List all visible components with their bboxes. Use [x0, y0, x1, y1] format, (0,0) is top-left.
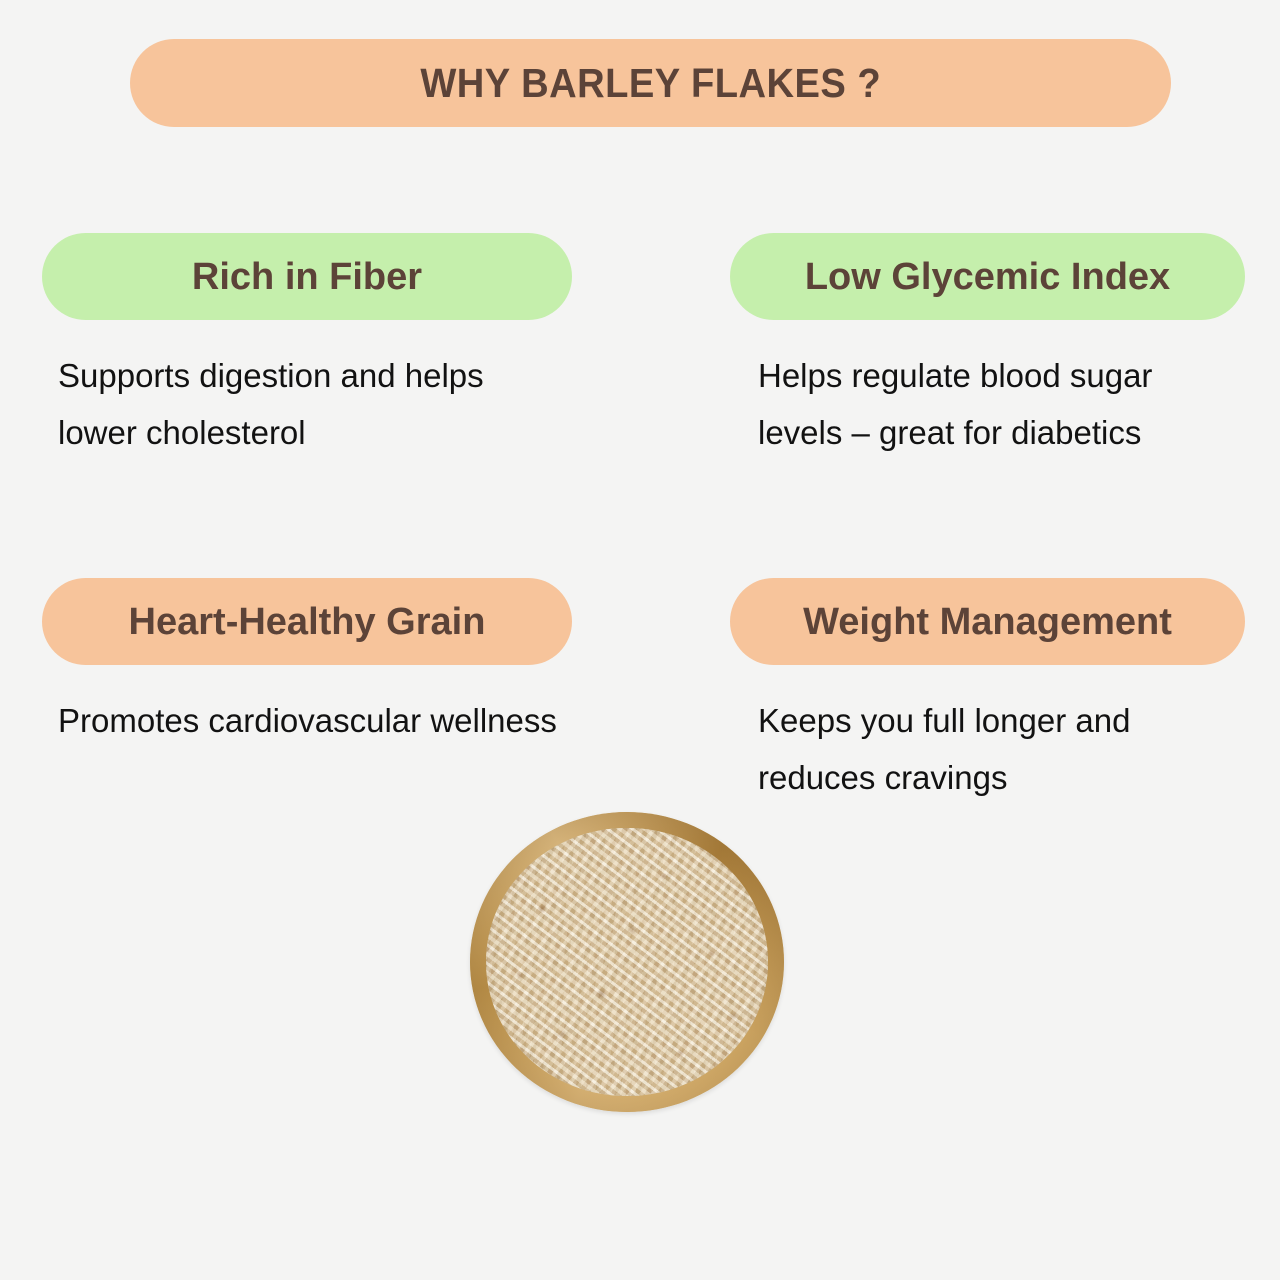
title-banner: WHY BARLEY FLAKES ? [130, 39, 1171, 127]
feature-card-heart-healthy-grain: Heart-Healthy Grain Promotes cardiovascu… [42, 578, 572, 750]
feature-description-heart-healthy-grain: Promotes cardiovascular wellness [42, 693, 572, 750]
feature-pill-low-glycemic-index: Low Glycemic Index [730, 233, 1245, 320]
feature-label-rich-in-fiber: Rich in Fiber [192, 258, 422, 296]
feature-pill-rich-in-fiber: Rich in Fiber [42, 233, 572, 320]
barley-flakes-specks [486, 828, 767, 1097]
feature-grid: Rich in Fiber Supports digestion and hel… [0, 233, 1280, 578]
feature-card-low-glycemic-index: Low Glycemic Index Helps regulate blood … [730, 233, 1245, 462]
feature-pill-weight-management: Weight Management [730, 578, 1245, 665]
page-title: WHY BARLEY FLAKES ? [420, 60, 881, 107]
barley-flakes-bowl-image [470, 812, 784, 1112]
feature-label-low-glycemic-index: Low Glycemic Index [805, 258, 1170, 296]
feature-pill-heart-healthy-grain: Heart-Healthy Grain [42, 578, 572, 665]
feature-description-rich-in-fiber: Supports digestion and helps lower chole… [42, 348, 572, 462]
bowl-interior [486, 828, 767, 1097]
feature-card-weight-management: Weight Management Keeps you full longer … [730, 578, 1245, 807]
feature-description-weight-management: Keeps you full longer and reduces cravin… [730, 693, 1245, 807]
feature-description-low-glycemic-index: Helps regulate blood sugar levels – grea… [730, 348, 1245, 462]
wooden-bowl [470, 812, 784, 1112]
feature-row-top: Rich in Fiber Supports digestion and hel… [0, 233, 1280, 578]
feature-label-heart-healthy-grain: Heart-Healthy Grain [129, 603, 486, 641]
feature-label-weight-management: Weight Management [803, 603, 1172, 641]
feature-card-rich-in-fiber: Rich in Fiber Supports digestion and hel… [42, 233, 572, 462]
poster-canvas: WHY BARLEY FLAKES ? Rich in Fiber Suppor… [0, 0, 1280, 1280]
